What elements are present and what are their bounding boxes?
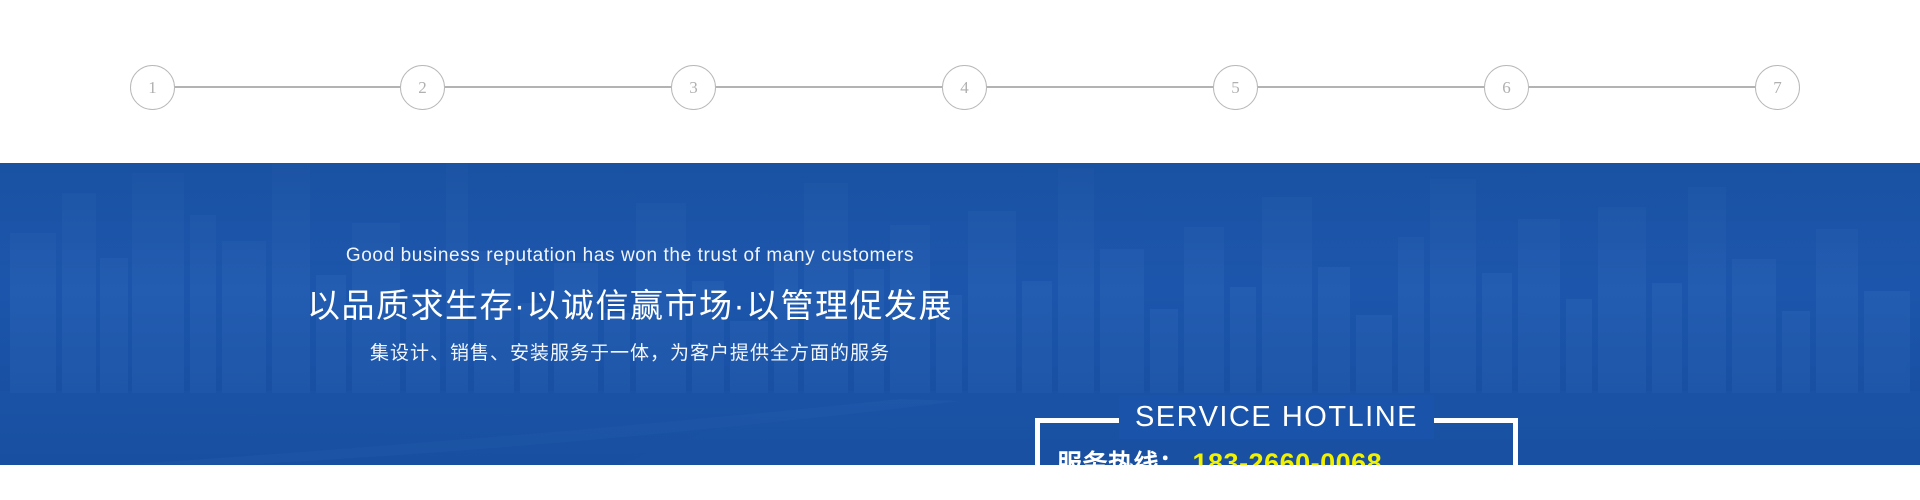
step-label-5: 5	[1231, 78, 1240, 98]
slogan-block: Good business reputation has won the tru…	[300, 245, 960, 367]
step-node-6[interactable]: 6	[1484, 65, 1529, 110]
service-hotline-box: SERVICE HOTLINE 服务热线： 183-2660-0068 0551…	[1035, 418, 1518, 465]
step-node-3[interactable]: 3	[671, 65, 716, 110]
step-label-6: 6	[1502, 78, 1511, 98]
hotline-row-primary: 服务热线： 183-2660-0068	[1057, 448, 1500, 465]
step-node-7[interactable]: 7	[1755, 65, 1800, 110]
step-label-3: 3	[689, 78, 698, 98]
step-node-4[interactable]: 4	[942, 65, 987, 110]
slogan-subline: 集设计、销售、安装服务于一体，为客户提供全方面的服务	[300, 342, 960, 367]
slogan-headline: 以品质求生存·以诚信赢市场·以管理促发展	[300, 285, 960, 326]
slogan-english-line: Good business reputation has won the tru…	[300, 245, 960, 268]
promo-banner: Good business reputation has won the tru…	[0, 163, 1920, 465]
step-node-5[interactable]: 5	[1213, 65, 1258, 110]
step-node-1[interactable]: 1	[130, 65, 175, 110]
step-label-7: 7	[1773, 78, 1782, 98]
step-label-1: 1	[148, 78, 157, 98]
page-root: 1 2 3 4 5 6 7	[0, 0, 1920, 500]
banner-content: Good business reputation has won the tru…	[0, 163, 1920, 465]
step-label-2: 2	[418, 78, 427, 98]
hotline-label: 服务热线：	[1057, 450, 1185, 465]
step-node-2[interactable]: 2	[400, 65, 445, 110]
pagination-track: 1 2 3 4 5 6 7	[130, 65, 1800, 110]
pagination-strip: 1 2 3 4 5 6 7	[0, 0, 1920, 163]
step-label-4: 4	[960, 78, 969, 98]
hotline-number-mobile[interactable]: 183-2660-0068	[1193, 448, 1383, 465]
hotline-body: 服务热线： 183-2660-0068 0551-63749777	[1035, 448, 1518, 465]
